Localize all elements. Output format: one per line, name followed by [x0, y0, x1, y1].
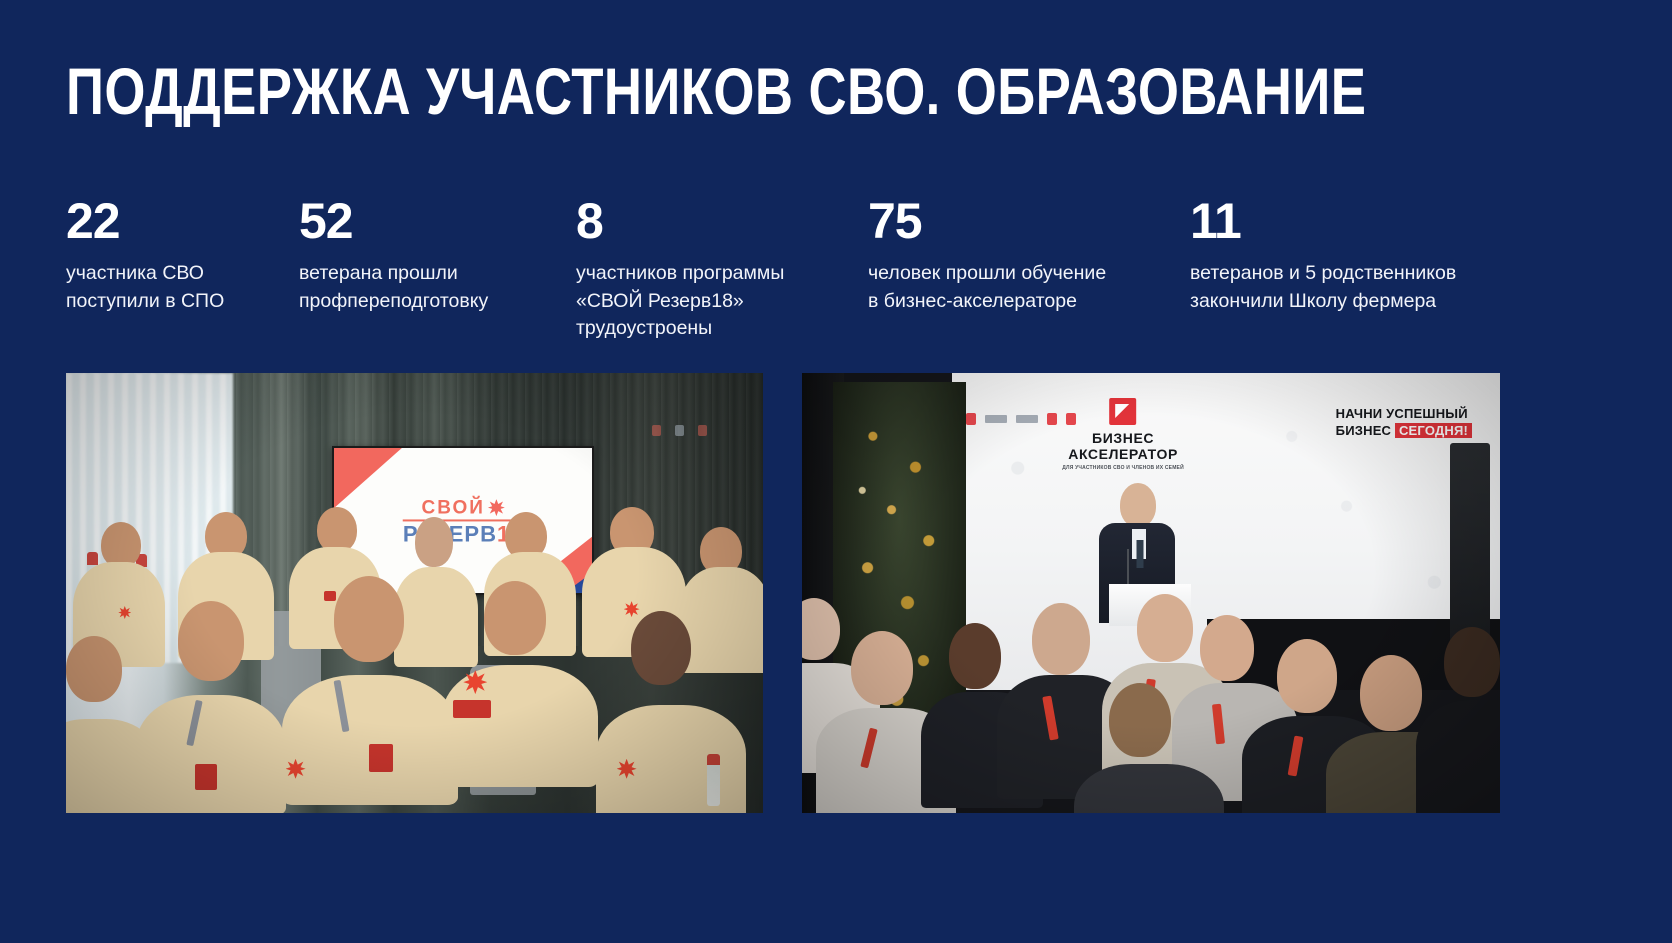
person-tshirt: [394, 567, 478, 667]
stat-block-2: 52 ветерана прошлипрофпереподготовку: [299, 196, 554, 315]
stat-description: ветеранов и 5 родственниковзакончили Шко…: [1190, 260, 1520, 315]
business-accelerator-logo: БИЗНЕС АКСЕЛЕРАТОР ДЛЯ УЧАСТНИКОВ СВО И …: [1062, 398, 1184, 471]
stat-description: участников программы«СВОЙ Резерв18»трудо…: [576, 260, 856, 343]
id-badge: [324, 591, 336, 601]
brand-line-1: БИЗНЕС: [1062, 430, 1184, 446]
slogan-line-2: БИЗНЕС: [1336, 423, 1391, 438]
brand-subtitle: ДЛЯ УЧАСТНИКОВ СВО И ЧЛЕНОВ ИХ СЕМЕЙ: [1062, 465, 1184, 471]
speaker-head: [1120, 483, 1156, 527]
person-head: [1032, 603, 1090, 675]
person-head: [1360, 655, 1422, 731]
stat-block-4: 75 человек прошли обучениев бизнес-аксел…: [868, 196, 1168, 315]
person-head: [66, 636, 122, 702]
person-head: [1109, 683, 1171, 757]
person-head: [949, 623, 1001, 689]
person-tshirt: [442, 665, 598, 787]
stat-number: 8: [576, 196, 856, 246]
stat-number: 11: [1190, 196, 1520, 246]
banner-slogan: НАЧНИ УСПЕШНЫЙ БИЗНЕС СЕГОДНЯ!: [1336, 405, 1472, 440]
page-title: ПОДДЕРЖКА УЧАСТНИКОВ СВО. ОБРАЗОВАНИЕ: [66, 58, 1366, 124]
person-head: [484, 581, 546, 655]
person-head: [1444, 627, 1500, 697]
partner-logo-strip: [966, 413, 1076, 425]
photo-right-business-accelerator: БИЗНЕС АКСЕЛЕРАТОР ДЛЯ УЧАСТНИКОВ СВО И …: [802, 373, 1500, 813]
stat-number: 75: [868, 196, 1168, 246]
stat-block-5: 11 ветеранов и 5 родственниковзакончили …: [1190, 196, 1520, 315]
person-tshirt: [679, 567, 763, 673]
tshirt-print: [453, 700, 491, 718]
accelerator-mark-icon: [1110, 398, 1137, 425]
person-body: [1074, 764, 1224, 813]
person-tshirt: [136, 695, 286, 813]
id-badge: [195, 764, 217, 790]
stat-number: 22: [66, 196, 306, 246]
stat-description: ветерана прошлипрофпереподготовку: [299, 260, 554, 315]
person-head: [1137, 594, 1193, 662]
person-head-woman: [631, 611, 691, 685]
logo-epb: EPB: [449, 521, 497, 546]
stat-number: 52: [299, 196, 554, 246]
person-head: [178, 601, 244, 681]
person-tshirt: [282, 675, 458, 805]
person-tshirt: [596, 705, 746, 813]
slogan-line-1: НАЧНИ УСПЕШНЫЙ: [1336, 405, 1472, 423]
person-head: [851, 631, 913, 705]
slogan-highlight: СЕГОДНЯ!: [1395, 423, 1472, 438]
person-head: [1200, 615, 1254, 681]
stat-block-3: 8 участников программы«СВОЙ Резерв18»тру…: [576, 196, 856, 343]
slide-root: ПОДДЕРЖКА УЧАСТНИКОВ СВО. ОБРАЗОВАНИЕ 22…: [0, 0, 1672, 943]
screen-triangle-topleft: [333, 447, 403, 509]
person-head-woman: [415, 517, 453, 567]
eight-point-star-icon: [488, 499, 505, 516]
brand-line-2: АКСЕЛЕРАТОР: [1062, 446, 1184, 462]
person-head: [1277, 639, 1337, 713]
id-badge: [369, 744, 393, 772]
audience-right: [802, 611, 1500, 813]
photo-left-conference-hall: СВОЙ PEZEPB18: [66, 373, 763, 813]
stats-row: 22 участника СВОпоступили в СПО 52 ветер…: [66, 196, 1606, 346]
audience-left: [66, 567, 763, 813]
stat-description: человек прошли обучениев бизнес-акселера…: [868, 260, 1168, 315]
person-head: [334, 576, 404, 662]
stat-description: участника СВОпоступили в СПО: [66, 260, 306, 315]
stat-block-1: 22 участника СВОпоступили в СПО: [66, 196, 306, 315]
speaker-tie: [1136, 540, 1143, 568]
logo-word-svoy: СВОЙ: [421, 498, 484, 517]
person-body: [1416, 700, 1500, 813]
water-bottle: [707, 754, 720, 806]
